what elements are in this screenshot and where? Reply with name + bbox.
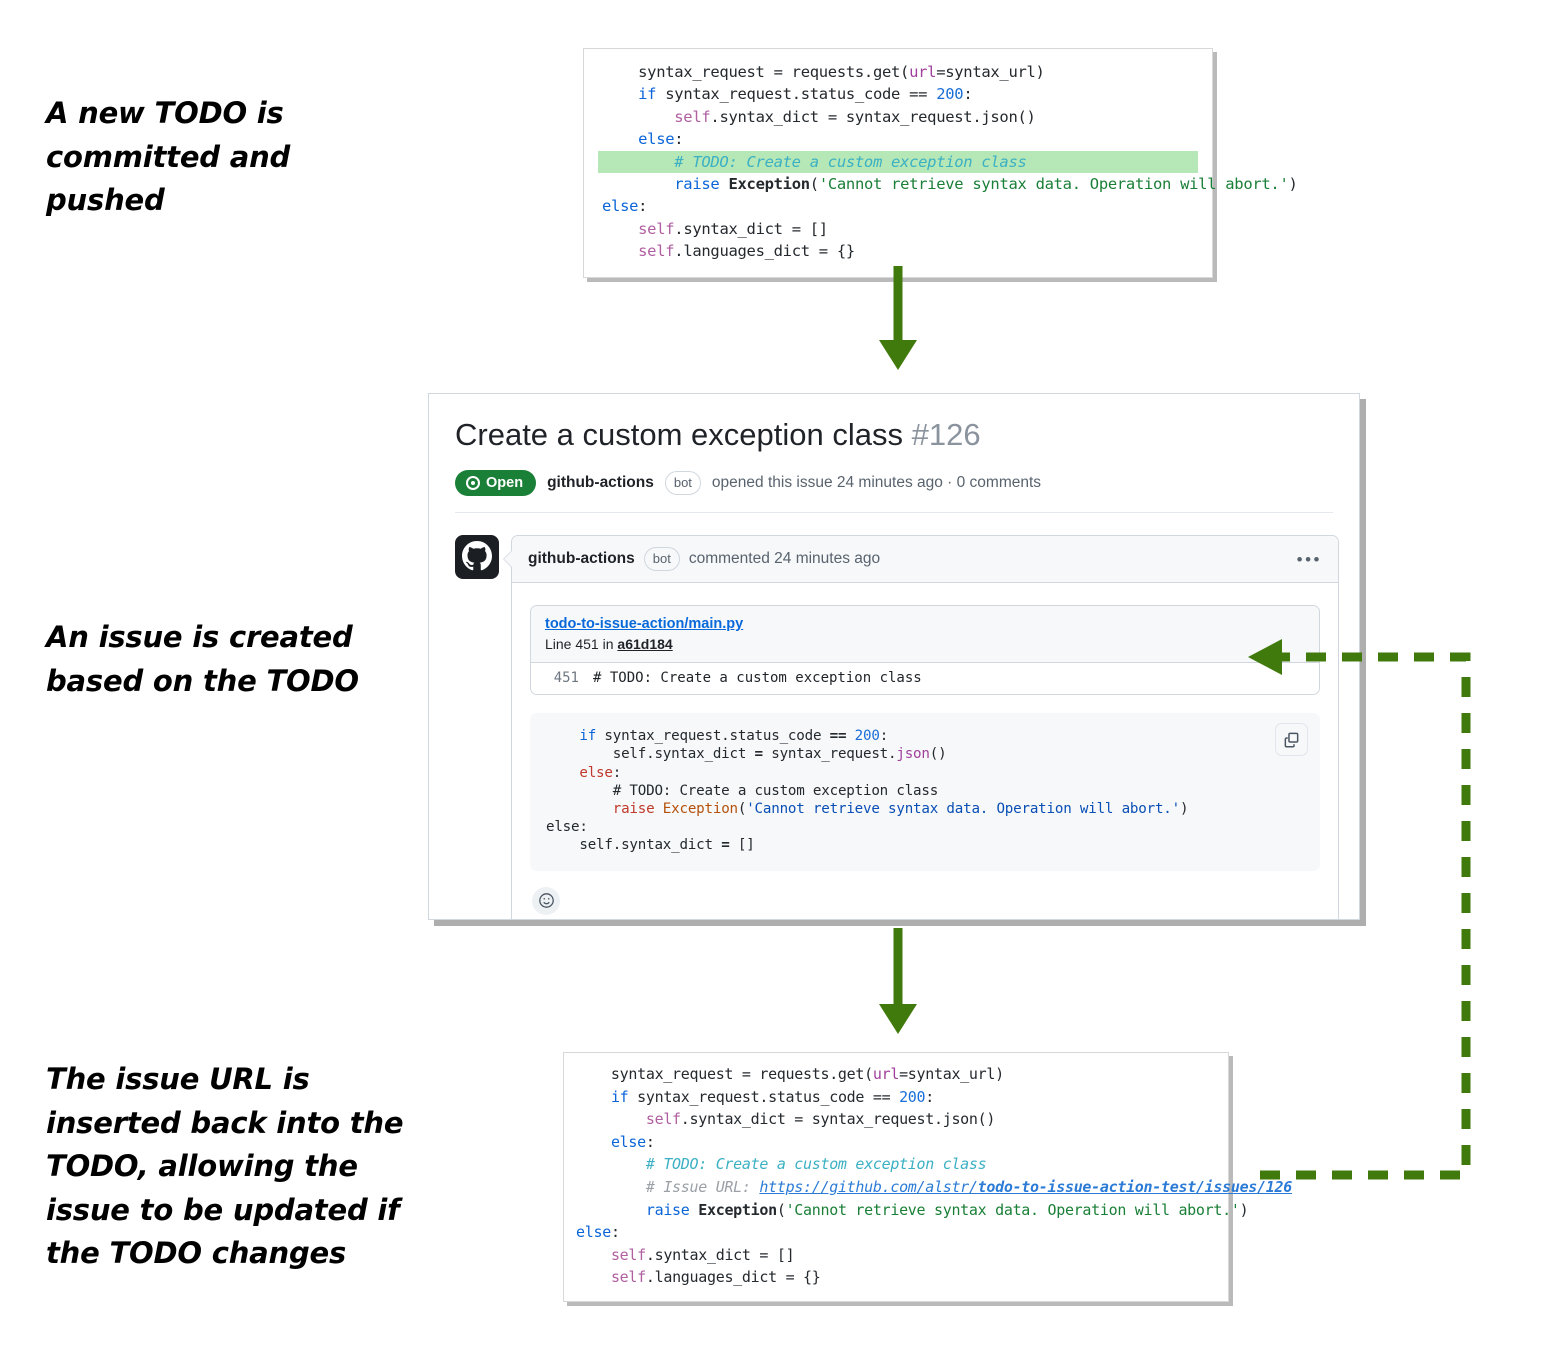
code-line: raise Exception('Cannot retrieve syntax … (598, 173, 1198, 195)
code-line: if syntax_request.status_code == 200: (546, 727, 1304, 745)
annotation-step-3: The issue URL is inserted back into the … (46, 1058, 416, 1276)
code-line: self.syntax_dict = [] (546, 836, 1304, 854)
code-line: syntax_request = requests.get(url=syntax… (598, 61, 1198, 83)
code-line: self.languages_dict = {} (576, 1266, 1216, 1289)
issue-open-icon (466, 476, 480, 490)
permalink-file-link[interactable]: todo-to-issue-action/main.py (545, 616, 743, 632)
divider (455, 512, 1333, 513)
code-line: self.syntax_dict = [] (598, 218, 1198, 240)
comment-header: github-actions bot commented 24 minutes … (512, 536, 1338, 584)
status-badge-open[interactable]: Open (455, 470, 536, 496)
code-line: self.syntax_dict = syntax_request.json() (598, 106, 1198, 128)
code-line: else: (546, 764, 1304, 782)
issue-meta-text: opened this issue 24 minutes ago · 0 com… (712, 474, 1041, 492)
bot-chip: bot (665, 471, 701, 496)
annotation-step-2: An issue is created based on the TODO (46, 616, 386, 703)
code-line: else: (576, 1131, 1216, 1154)
code-line: # TODO: Create a custom exception class (546, 782, 1304, 800)
code-line: else: (576, 1221, 1216, 1244)
permalink-line-number: 451 (531, 670, 593, 686)
issue-title: Create a custom exception class #126 (455, 416, 1333, 455)
add-reaction-icon[interactable] (532, 887, 560, 915)
smiley-icon (538, 892, 555, 909)
issue-title-text: Create a custom exception class (455, 417, 903, 452)
code-line: # TODO: Create a custom exception class (576, 1153, 1216, 1176)
code-line-todo-highlight: # TODO: Create a custom exception class (598, 151, 1198, 173)
permalink-line-prefix: Line 451 in (545, 636, 617, 652)
comment-author[interactable]: github-actions (528, 550, 635, 568)
code-line: raise Exception('Cannot retrieve syntax … (546, 800, 1304, 818)
code-card-after: syntax_request = requests.get(url=syntax… (563, 1052, 1229, 1302)
code-line: self.syntax_dict = [] (576, 1244, 1216, 1267)
code-card-before: syntax_request = requests.get(url=syntax… (583, 48, 1213, 278)
code-line: else: (598, 195, 1198, 217)
arrow-down-to-updated-code (860, 928, 940, 1040)
code-line: else: (546, 818, 1304, 836)
code-line: self.syntax_dict = syntax_request.json() (576, 1108, 1216, 1131)
arrow-down-to-issue (860, 266, 940, 376)
kebab-menu-icon[interactable]: ••• (1297, 551, 1322, 568)
code-line: else: (598, 128, 1198, 150)
github-mark-icon (462, 541, 492, 571)
status-badge-label: Open (486, 475, 523, 491)
comment-bot-chip: bot (644, 547, 680, 572)
comment-timestamp: commented 24 minutes ago (689, 550, 880, 568)
arrow-feedback-loop-dashed (1200, 630, 1540, 1200)
issue-meta-row: Open github-actions bot opened this issu… (455, 470, 1333, 496)
diagram-canvas: A new TODO is committed and pushed An is… (0, 0, 1543, 1351)
code-line: syntax_request = requests.get(url=syntax… (576, 1063, 1216, 1086)
issue-header: Create a custom exception class #126 Ope… (429, 394, 1359, 513)
github-avatar-icon[interactable] (455, 535, 499, 579)
code-line: if syntax_request.status_code == 200: (576, 1086, 1216, 1109)
annotation-step-1: A new TODO is committed and pushed (46, 92, 346, 223)
issue-number: #126 (912, 417, 981, 452)
code-line: self.syntax_dict = syntax_request.json() (546, 745, 1304, 763)
issue-author[interactable]: github-actions (547, 474, 654, 492)
code-line: raise Exception('Cannot retrieve syntax … (576, 1199, 1216, 1222)
permalink-code-text: # TODO: Create a custom exception class (593, 670, 922, 686)
permalink-line-info: Line 451 in a61d184 (545, 636, 1305, 652)
code-line-issue-url: # Issue URL: https://github.com/alstr/to… (576, 1176, 1216, 1199)
code-line: self.languages_dict = {} (598, 240, 1198, 262)
code-line: if syntax_request.status_code == 200: (598, 83, 1198, 105)
issue-url-link[interactable]: https://github.com/alstr/todo-to-issue-a… (759, 1178, 1292, 1196)
permalink-commit-sha[interactable]: a61d184 (617, 636, 672, 652)
